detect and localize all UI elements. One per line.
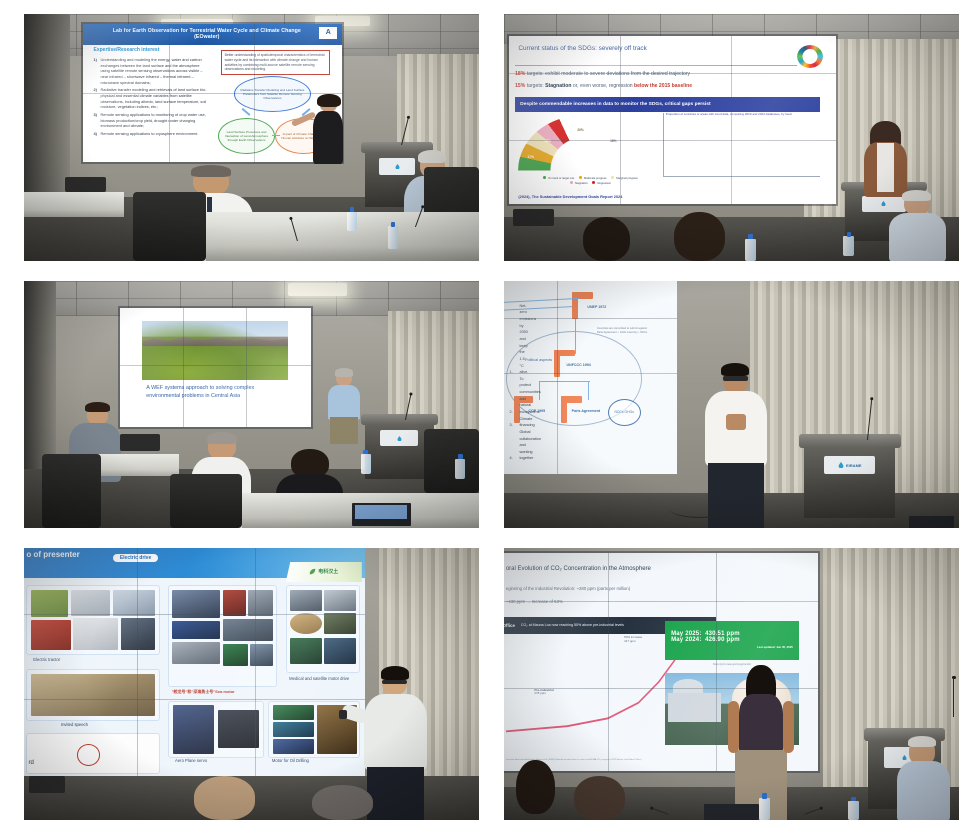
list-item: 4)Remote sensing applications to cryosph…	[94, 131, 208, 137]
laptop	[704, 804, 759, 820]
leaf-icon	[309, 568, 316, 575]
slide-banner: Lab for Earth Observation for Terrestria…	[83, 24, 342, 45]
presenter-clicker	[339, 710, 347, 719]
gauge-value: 20%	[577, 128, 583, 132]
gauge-value: 17%	[626, 155, 632, 159]
card-caption: Electric tractor	[33, 657, 60, 662]
bullet-text: Remote sensing applications to monitorin…	[101, 112, 206, 128]
eyeglasses-icon	[382, 680, 407, 685]
attendee-person	[306, 785, 379, 820]
slide-banner: Despite commendable increases in data to…	[515, 97, 820, 112]
image-card	[26, 585, 159, 656]
arrow-icon	[272, 135, 280, 137]
room-scene-6: oral Evolution of CO₂ Concentration in t…	[504, 548, 959, 820]
chair	[133, 192, 206, 261]
list-item: 4.Global collaboration and working toget…	[509, 429, 644, 462]
image-card	[26, 669, 159, 721]
photo-panel-1: Lab for Earth Observation for Terrestria…	[24, 14, 479, 261]
stat-line-2: 15% targets: Stagnation or, even worse, …	[515, 83, 692, 89]
list-item: 1)Understanding and modeling the energy,…	[94, 57, 208, 85]
slide-banner-line2: (EOwater)	[194, 34, 219, 40]
attendee-person	[668, 212, 732, 261]
presenter-person	[306, 96, 352, 180]
slide-pill-label: Electric drive	[113, 554, 158, 562]
photo-panel-3: A WEF systems approach to solving comple…	[24, 281, 479, 528]
side-table	[97, 454, 179, 476]
sdg-wheel-icon	[797, 45, 823, 69]
slide-caption: A WEF systems approach to solving comple…	[146, 384, 284, 400]
slide-footer: (2024), The Sustainable Development Goal…	[518, 194, 622, 199]
podium-logo-icon: EIRAME	[824, 456, 875, 474]
projection-screen-3: A WEF systems approach to solving comple…	[120, 308, 311, 427]
card-caption: Motor for Oil Drilling	[272, 758, 309, 763]
stats-box: May 2025:430.51 ppm May 2024:426.90 ppm …	[665, 621, 799, 660]
room-scene-5: o of presenter Electric drive 电科汉土	[24, 548, 479, 820]
slide-sdg: Current status of the SDGs: severely off…	[509, 36, 837, 204]
chair	[424, 429, 479, 493]
projector-device	[29, 776, 65, 792]
image-card	[286, 585, 361, 674]
annotation-preindustrial: Pre-industrial 278 ppm	[534, 689, 553, 697]
conference-table	[206, 212, 479, 261]
projection-screen-2: Current status of the SDGs: severely off…	[509, 36, 837, 204]
callout-box: Better understanding of spatiotemporal c…	[221, 50, 330, 75]
attendee-person	[577, 217, 636, 261]
projector-device	[120, 434, 161, 451]
attendee-person	[509, 760, 564, 820]
diagram-node-land-surface: Land Surface Processes and Interaction o…	[218, 118, 275, 154]
attendee-person	[188, 776, 261, 820]
photo-panel-4: Political aspects UNEP 1972 UNFCCC 1994 …	[504, 281, 959, 528]
card-caption: Medical and satellite motor drive	[289, 676, 358, 681]
gauge-legend: On track or target met Moderate progress…	[518, 176, 662, 186]
numbered-list: 1.Net-zero emissions by 2050 and keep th…	[509, 303, 644, 462]
card-caption: Invited speech	[61, 722, 88, 727]
bar-chart	[663, 113, 820, 177]
slide-title: oral Evolution of CO₂ Concentration in t…	[506, 566, 651, 572]
projection-screen-1: Lab for Earth Observation for Terrestria…	[83, 24, 342, 162]
gauge-value: 17%	[528, 155, 534, 159]
room-scene-4: Political aspects UNEP 1972 UNFCCC 1994 …	[504, 281, 959, 528]
presenter-person	[324, 370, 365, 444]
slide-heading: Expertise/Research interest	[94, 47, 160, 53]
lab-logo-icon: A	[319, 27, 337, 39]
laptop	[352, 503, 411, 525]
last-updated-text: Last updated: Jun 05, 2025	[671, 645, 799, 649]
podium: EIRAME	[804, 434, 895, 518]
source-url: https://gml.noaa.gov/ccgg/trends/	[665, 663, 799, 666]
bullet-text: Remote sensing applications to cryospher…	[101, 131, 199, 136]
water-drop-icon	[397, 436, 402, 441]
news-brand: Office	[504, 623, 515, 628]
podium-logo-icon	[380, 430, 418, 447]
certificate-card	[26, 733, 159, 774]
slide-wef: A WEF systems approach to solving comple…	[120, 308, 311, 427]
image-card	[168, 701, 263, 758]
card-caption: "蛟龙号"和"深海勇士号"Sea motor	[172, 689, 235, 695]
photo-grid: Lab for Earth Observation for Terrestria…	[0, 0, 979, 821]
card-caption: Aero Plane servo	[175, 758, 207, 763]
microphone-icon	[953, 679, 954, 717]
arrow-icon	[242, 108, 251, 116]
water-drop-icon	[838, 462, 844, 468]
water-bottle	[347, 212, 357, 232]
slide-photo	[142, 321, 287, 380]
eyeglasses-icon	[723, 376, 748, 381]
attendee-person	[895, 738, 959, 820]
slide-banner-line1: Lab for Earth Observation for Terrestria…	[113, 28, 301, 34]
hands	[726, 414, 746, 430]
water-bottle	[843, 236, 854, 256]
ceiling-light	[288, 283, 347, 295]
mountain-graphic	[142, 335, 287, 346]
projection-screen-5: o of presenter Electric drive 电科汉土	[24, 548, 365, 776]
projector-device	[513, 209, 554, 226]
bullet-list: 1)Understanding and modeling the energy,…	[94, 57, 208, 139]
water-bottle	[361, 454, 371, 474]
list-item: 3.Climate financing	[509, 416, 644, 429]
photo-panel-6: oral Evolution of CO₂ Concentration in t…	[504, 548, 959, 820]
room-scene-1: Lab for Earth Observation for Terrestria…	[24, 14, 479, 261]
water-bottle	[388, 226, 398, 248]
podium-logo-text: EIRAME	[846, 463, 862, 468]
side-table	[24, 192, 124, 217]
slide-title: Current status of the SDGs: severely off…	[518, 45, 646, 52]
chair	[42, 454, 101, 528]
list-item: 3)Remote sensing applications to monitor…	[94, 112, 208, 129]
water-bottle	[745, 239, 756, 261]
slide-unfccc: Political aspects UNEP 1972 UNFCCC 1994 …	[504, 281, 677, 474]
projector-device	[65, 177, 106, 192]
room-scene-3: A WEF systems approach to solving comple…	[24, 281, 479, 528]
laptop	[909, 516, 955, 528]
list-item: 2)Radiative transfer modeling and retrie…	[94, 87, 208, 110]
gauge-chart: 17% 18% 20% 18% 17%	[518, 115, 649, 170]
chair	[170, 474, 243, 528]
diagram-node-radiative-transfer: Radiative Transfer Modeling and Land Sur…	[234, 76, 312, 112]
slide-subtext: eginning of the Industrial Revolution: ~…	[506, 586, 630, 591]
water-bottle	[455, 459, 465, 479]
slide-electric-drive: o of presenter Electric drive 电科汉土	[24, 548, 365, 776]
annotation-increase: 50% increase 417 ppm	[624, 636, 642, 644]
slide-text-fragment: rd	[29, 760, 34, 766]
image-card	[168, 585, 277, 688]
photo-panel-2: Current status of the SDGs: severely off…	[504, 14, 959, 261]
water-bottle	[759, 798, 770, 820]
attendee-person	[886, 192, 959, 261]
room-scene-2: Current status of the SDGs: severely off…	[504, 14, 959, 261]
projection-screen-4: Political aspects UNEP 1972 UNFCCC 1994 …	[504, 281, 677, 474]
bullet-text: Radiative transfer modeling and retrieva…	[101, 87, 207, 109]
bullet-text: Understanding and modeling the energy, w…	[101, 57, 203, 85]
podium	[365, 414, 433, 478]
stat-row: May 2024:426.90 ppm	[671, 637, 799, 643]
presenter-person	[859, 123, 914, 197]
attendee-person	[568, 776, 632, 820]
university-logo-icon: 电科汉土	[286, 562, 362, 583]
photo-panel-5: o of presenter Electric drive 电科汉土	[24, 548, 479, 820]
water-bottle	[848, 801, 859, 820]
slide-title: o of presenter	[26, 550, 79, 559]
